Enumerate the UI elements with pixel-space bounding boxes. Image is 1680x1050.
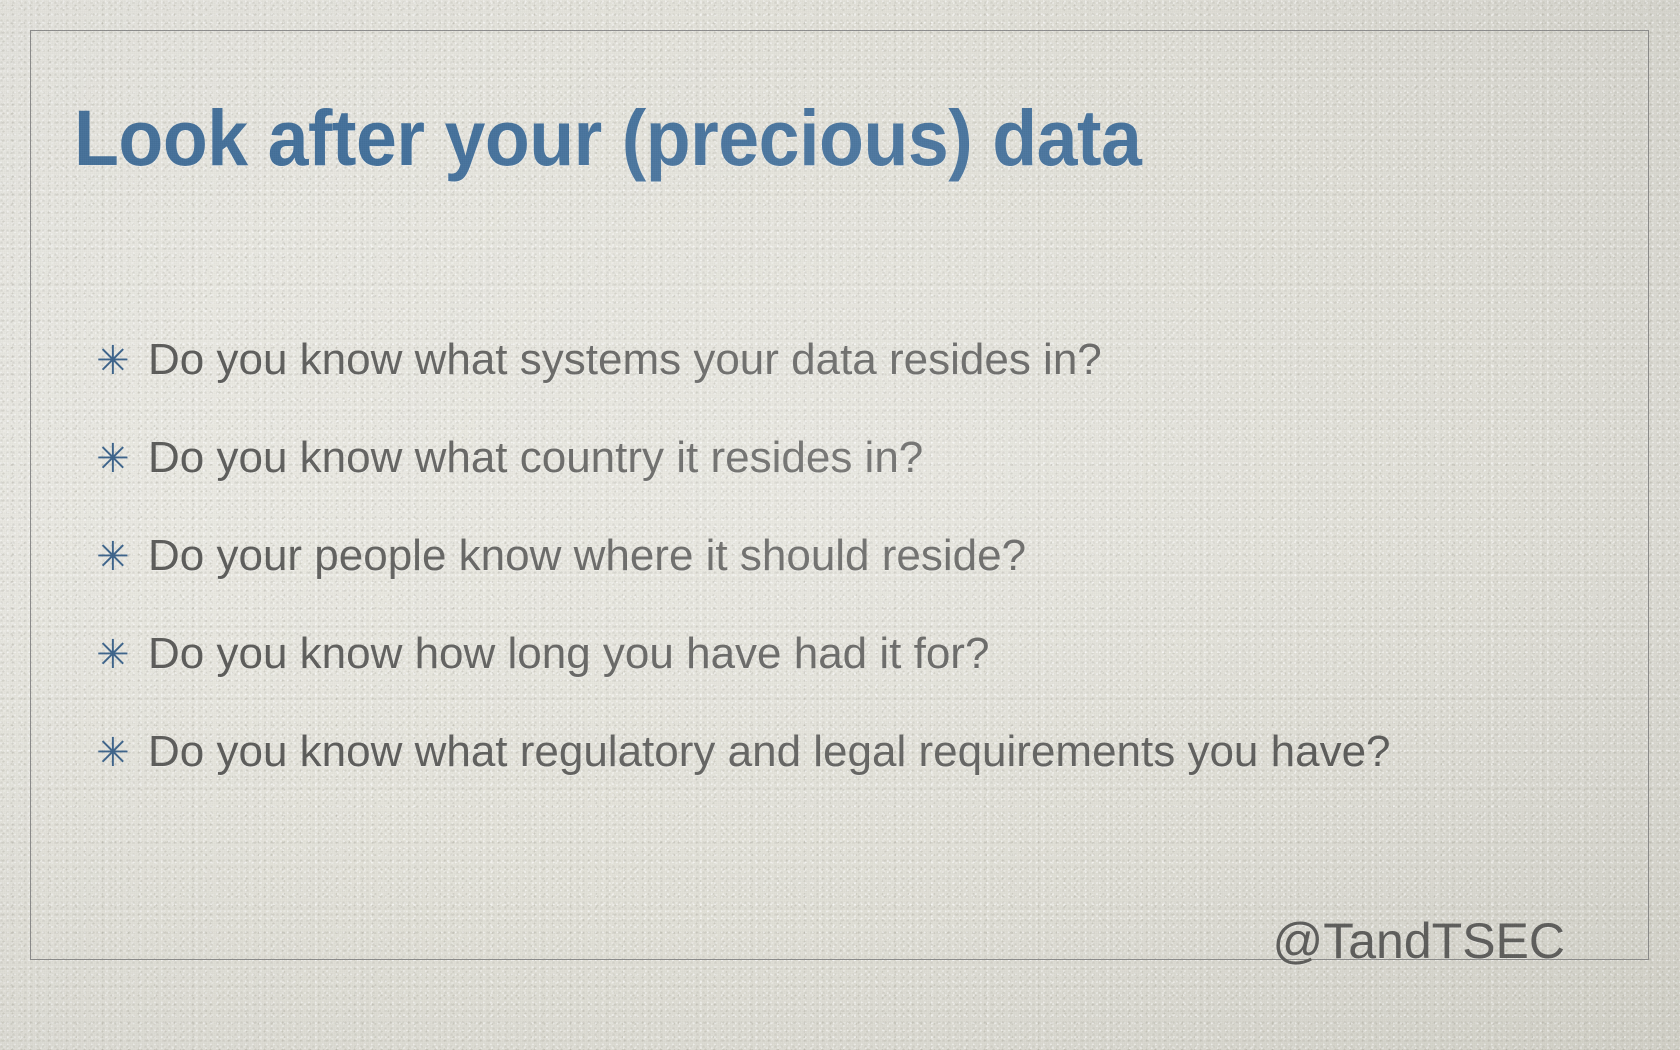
asterisk-bullet-icon: ✳ [96, 537, 148, 577]
list-item: ✳ Do your people know where it should re… [96, 534, 1596, 632]
list-item-label: Do you know what systems your data resid… [148, 338, 1102, 382]
social-handle: @TandTSEC [1272, 916, 1565, 966]
list-item: ✳ Do you know what regulatory and legal … [96, 730, 1596, 828]
asterisk-bullet-icon: ✳ [96, 439, 148, 479]
list-item-label: Do you know how long you have had it for… [148, 632, 989, 676]
list-item: ✳ Do you know what systems your data res… [96, 338, 1596, 436]
list-item-label: Do you know what country it resides in? [148, 436, 923, 480]
list-item: ✳ Do you know what country it resides in… [96, 436, 1596, 534]
presentation-slide: Look after your (precious) data ✳ Do you… [0, 0, 1680, 1050]
asterisk-bullet-icon: ✳ [96, 341, 148, 381]
list-item-label: Do you know what regulatory and legal re… [148, 730, 1391, 774]
list-item: ✳ Do you know how long you have had it f… [96, 632, 1596, 730]
asterisk-bullet-icon: ✳ [96, 733, 148, 773]
slide-title: Look after your (precious) data [74, 98, 1141, 177]
bullet-list: ✳ Do you know what systems your data res… [96, 338, 1596, 828]
asterisk-bullet-icon: ✳ [96, 635, 148, 675]
list-item-label: Do your people know where it should resi… [148, 534, 1026, 578]
